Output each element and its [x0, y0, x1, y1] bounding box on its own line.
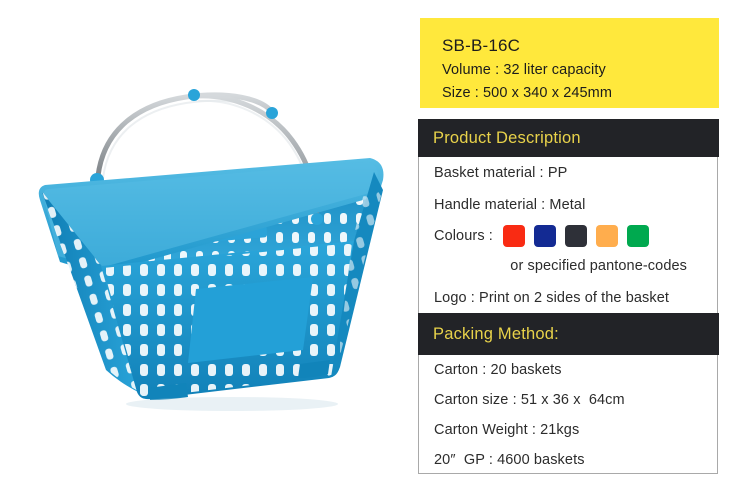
row-carton-weight: Carton Weight : 21kgs — [434, 415, 709, 445]
row-handle-material: Handle material : Metal — [434, 189, 709, 221]
shopping-basket-image — [0, 0, 410, 498]
packing-rows: Carton : 20 baskets Carton size : 51 x 3… — [434, 355, 709, 475]
specification-panel: SB-B-16C Volume : 32 liter capacity Size… — [418, 0, 719, 498]
row-container-load: 20″ GP : 4600 baskets — [434, 445, 709, 475]
colour-swatch-green[interactable] — [627, 225, 649, 247]
product-volume: Volume : 32 liter capacity — [442, 59, 719, 82]
section-header-packing-method: Packing Method: — [418, 313, 719, 355]
row-pantone-note: or specified pantone-codes — [434, 251, 709, 281]
colour-swatch-red[interactable] — [503, 225, 525, 247]
description-rows: Basket material : PP Handle material : M… — [434, 157, 709, 315]
section-header-product-description: Product Description — [418, 119, 719, 157]
row-carton-size: Carton size : 51 x 36 x 64cm — [434, 385, 709, 415]
row-colours: Colours : — [434, 221, 709, 251]
row-carton-count: Carton : 20 baskets — [434, 355, 709, 385]
product-summary-block: SB-B-16C Volume : 32 liter capacity Size… — [420, 18, 719, 108]
section-title-product-description: Product Description — [433, 129, 581, 148]
colour-swatch-navy-blue[interactable] — [534, 225, 556, 247]
row-basket-material: Basket material : PP — [434, 157, 709, 189]
spec-detail-box: Product Description Basket material : PP… — [418, 119, 718, 474]
colours-label: Colours : — [434, 221, 493, 251]
colour-swatch-charcoal-black[interactable] — [565, 225, 587, 247]
row-logo: Logo : Print on 2 sides of the basket — [434, 281, 709, 315]
product-photo — [0, 0, 410, 498]
product-code: SB-B-16C — [442, 34, 719, 58]
section-title-packing-method: Packing Method: — [433, 325, 559, 344]
product-size: Size : 500 x 340 x 245mm — [442, 82, 719, 105]
colour-swatch-list — [503, 225, 649, 247]
front-label-panel — [188, 277, 313, 363]
basket-shadow — [126, 397, 338, 411]
colour-swatch-orange[interactable] — [596, 225, 618, 247]
